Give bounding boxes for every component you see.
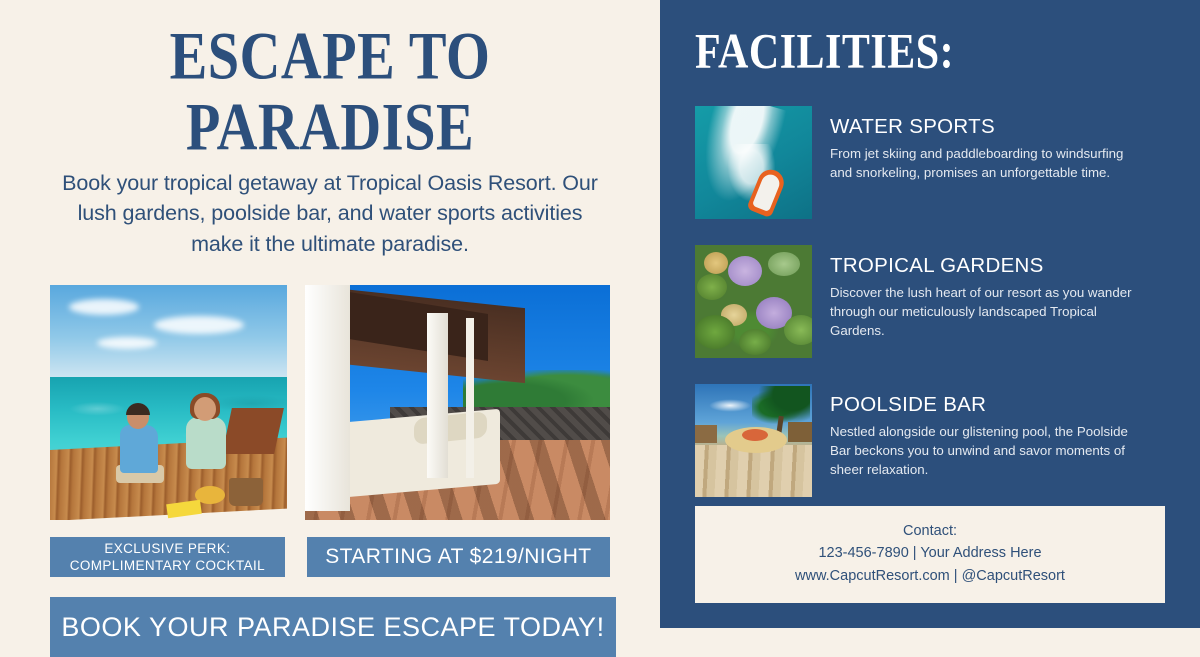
facility-description: From jet skiing and paddleboarding to wi… (830, 145, 1148, 183)
woman-figure (182, 389, 230, 469)
book-now-button[interactable]: BOOK YOUR PARADISE ESCAPE TODAY! (50, 597, 616, 657)
facility-description: Nestled alongside our glistening pool, t… (830, 423, 1148, 480)
facility-text: POOLSIDE BAR Nestled alongside our glist… (830, 384, 1148, 497)
page-title: ESCAPE TO PARADISE (53, 22, 607, 163)
perk-line-1: EXCLUSIVE PERK: (70, 540, 265, 558)
facilities-title: FACILITIES: (695, 24, 1165, 81)
facility-description: Discover the lush heart of our resort as… (830, 284, 1148, 341)
ice-bucket-shape (229, 478, 263, 506)
facility-item-water-sports[interactable]: WATER SPORTS From jet skiing and paddleb… (695, 106, 1165, 219)
couple-on-dock-photo (50, 285, 287, 520)
water-sports-thumbnail (695, 106, 812, 219)
facilities-list: WATER SPORTS From jet skiing and paddleb… (695, 106, 1165, 497)
man-figure (116, 395, 162, 473)
curtain-panel (427, 313, 448, 478)
lounger-shape (223, 408, 285, 454)
promo-poster: ESCAPE TO PARADISE Book your tropical ge… (0, 0, 1200, 628)
left-panel: ESCAPE TO PARADISE Book your tropical ge… (0, 0, 660, 628)
cabana-daybed-photo (305, 285, 610, 520)
facility-item-tropical-gardens[interactable]: TROPICAL GARDENS Discover the lush heart… (695, 245, 1165, 358)
bed-post (466, 318, 474, 478)
perk-line-2: COMPLIMENTARY COCKTAIL (70, 557, 265, 575)
photo-gallery (50, 285, 610, 520)
contact-phone-address[interactable]: 123-456-7890 | Your Address Here (705, 542, 1155, 564)
cloud-shape (154, 316, 244, 334)
facility-name: WATER SPORTS (830, 115, 1148, 139)
cloud-shape (97, 337, 157, 349)
badge-row: EXCLUSIVE PERK: COMPLIMENTARY COCKTAIL S… (50, 537, 610, 577)
facility-item-poolside-bar[interactable]: POOLSIDE BAR Nestled alongside our glist… (695, 384, 1165, 497)
facility-name: TROPICAL GARDENS (830, 254, 1148, 278)
contact-web-social[interactable]: www.CapcutResort.com | @CapcutResort (705, 565, 1155, 587)
poolside-bar-thumbnail (695, 384, 812, 497)
facility-name: POOLSIDE BAR (830, 393, 1148, 417)
facility-text: WATER SPORTS From jet skiing and paddleb… (830, 106, 1148, 219)
curtain-panel (305, 285, 351, 511)
facility-text: TROPICAL GARDENS Discover the lush heart… (830, 245, 1148, 358)
right-panel: FACILITIES: WATER SPORTS From jet skiing… (660, 0, 1200, 628)
exclusive-perk-badge[interactable]: EXCLUSIVE PERK: COMPLIMENTARY COCKTAIL (50, 537, 285, 577)
intro-paragraph: Book your tropical getaway at Tropical O… (50, 168, 610, 260)
price-badge[interactable]: STARTING AT $219/NIGHT (307, 537, 610, 577)
contact-label: Contact: (705, 520, 1155, 542)
contact-card: Contact: 123-456-7890 | Your Address Her… (695, 506, 1165, 603)
tropical-gardens-thumbnail (695, 245, 812, 358)
